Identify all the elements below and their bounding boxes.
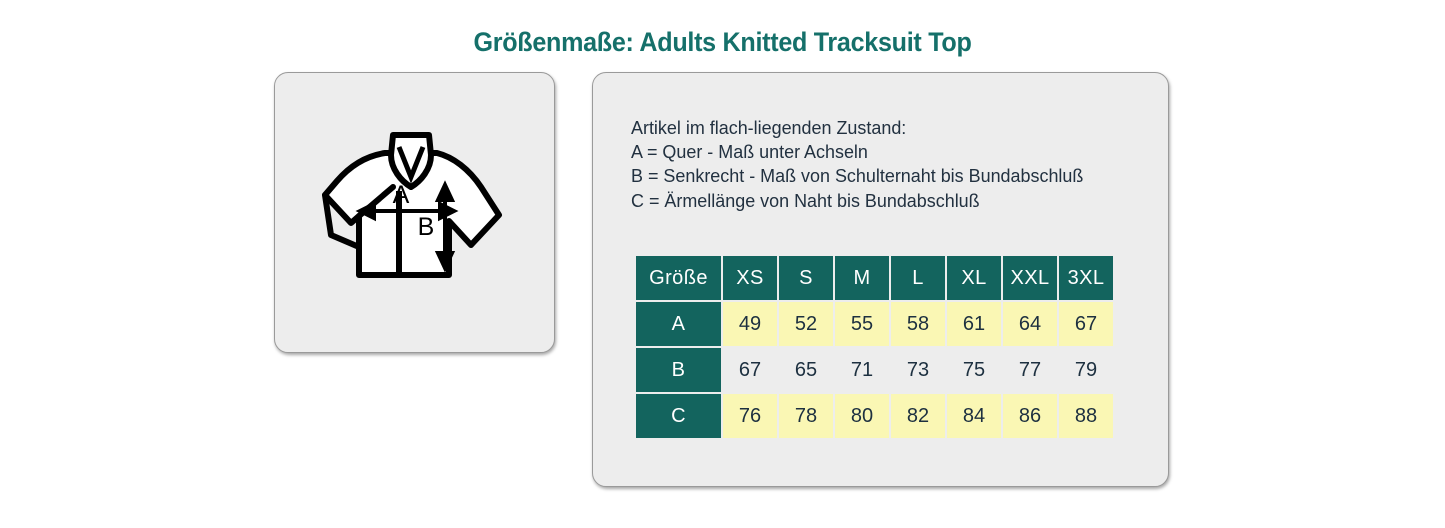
measure-label-a: A — [393, 181, 410, 209]
cell-b-xxl: 77 — [1003, 348, 1057, 392]
size-chart-table: Größe XS S M L XL XXL 3XL A 49 52 55 58 … — [634, 254, 1115, 440]
header-s: S — [779, 256, 833, 300]
cell-c-xs: 76 — [723, 394, 777, 438]
header-size: Größe — [636, 256, 721, 300]
legend-line-a: A = Quer - Maß unter Achseln — [631, 140, 1083, 164]
cell-a-3xl: 67 — [1059, 302, 1113, 346]
cell-c-s: 78 — [779, 394, 833, 438]
cell-a-xs: 49 — [723, 302, 777, 346]
cell-b-3xl: 79 — [1059, 348, 1113, 392]
header-xl: XL — [947, 256, 1001, 300]
cell-a-xxl: 64 — [1003, 302, 1057, 346]
legend-line-c: C = Ärmellänge von Naht bis Bundabschluß — [631, 189, 1083, 213]
illustration-panel: A B — [274, 72, 555, 353]
table-row: C 76 78 80 82 84 86 88 — [636, 394, 1113, 438]
cell-c-xl: 84 — [947, 394, 1001, 438]
legend-line-b: B = Senkrecht - Maß von Schulternaht bis… — [631, 164, 1083, 188]
info-panel: Artikel im flach-liegenden Zustand: A = … — [592, 72, 1169, 487]
tracksuit-top-illustration-icon: A B — [321, 125, 511, 297]
table-row: A 49 52 55 58 61 64 67 — [636, 302, 1113, 346]
page-title: Größenmaße: Adults Knitted Tracksuit Top — [51, 27, 1395, 58]
cell-c-l: 82 — [891, 394, 945, 438]
header-xxl: XXL — [1003, 256, 1057, 300]
cell-b-xs: 67 — [723, 348, 777, 392]
cell-c-xxl: 86 — [1003, 394, 1057, 438]
row-label-a: A — [636, 302, 721, 346]
cell-a-s: 52 — [779, 302, 833, 346]
cell-c-3xl: 88 — [1059, 394, 1113, 438]
cell-b-xl: 75 — [947, 348, 1001, 392]
header-3xl: 3XL — [1059, 256, 1113, 300]
row-label-b: B — [636, 348, 721, 392]
header-l: L — [891, 256, 945, 300]
cell-b-l: 73 — [891, 348, 945, 392]
header-xs: XS — [723, 256, 777, 300]
row-label-c: C — [636, 394, 721, 438]
measurement-legend: Artikel im flach-liegenden Zustand: A = … — [631, 116, 1083, 213]
cell-a-l: 58 — [891, 302, 945, 346]
cell-b-s: 65 — [779, 348, 833, 392]
header-m: M — [835, 256, 889, 300]
legend-intro: Artikel im flach-liegenden Zustand: — [631, 116, 1083, 140]
cell-c-m: 80 — [835, 394, 889, 438]
cell-b-m: 71 — [835, 348, 889, 392]
measure-label-b: B — [418, 213, 435, 241]
table-row: B 67 65 71 73 75 77 79 — [636, 348, 1113, 392]
cell-a-xl: 61 — [947, 302, 1001, 346]
table-header-row: Größe XS S M L XL XXL 3XL — [636, 256, 1113, 300]
cell-a-m: 55 — [835, 302, 889, 346]
